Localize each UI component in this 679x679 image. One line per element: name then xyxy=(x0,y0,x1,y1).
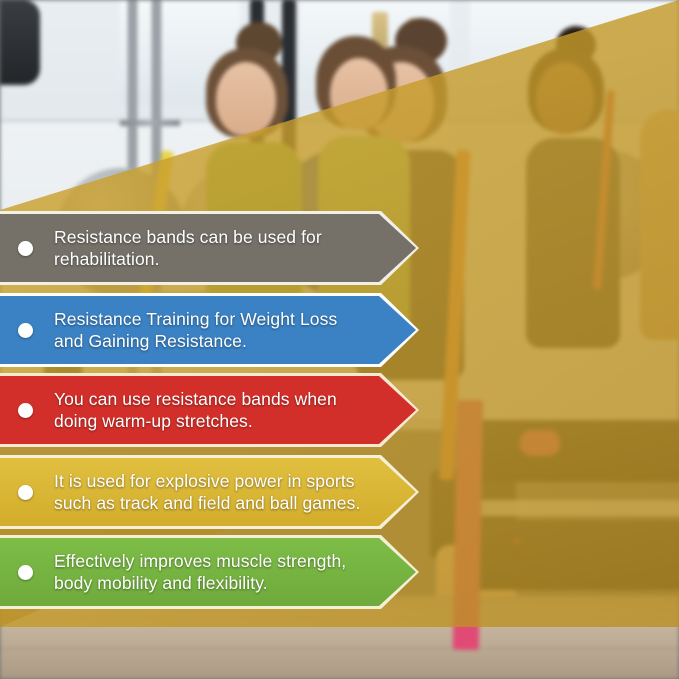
benefit-banner-list: Resistance bands can be used for rehabil… xyxy=(0,0,679,679)
banner-2-text: Resistance Training for Weight Loss and … xyxy=(54,308,337,352)
banner-5-line-1: Effectively improves muscle strength, xyxy=(54,550,346,572)
infographic-canvas: Resistance bands can be used for rehabil… xyxy=(0,0,679,679)
banner-4-text: It is used for explosive power in sports… xyxy=(54,470,360,514)
banner-5-content: Effectively improves muscle strength, bo… xyxy=(0,535,419,609)
benefit-banner-3[interactable]: You can use resistance bands when doing … xyxy=(0,373,419,447)
bullet-dot-icon xyxy=(18,485,33,500)
banner-3-line-2: doing warm-up stretches. xyxy=(54,410,337,432)
benefit-banner-4[interactable]: It is used for explosive power in sports… xyxy=(0,455,419,529)
benefit-banner-2[interactable]: Resistance Training for Weight Loss and … xyxy=(0,293,419,367)
banner-3-line-1: You can use resistance bands when xyxy=(54,388,337,410)
bullet-dot-icon xyxy=(18,403,33,418)
banner-4-line-2: such as track and field and ball games. xyxy=(54,492,360,514)
banner-1-text: Resistance bands can be used for rehabil… xyxy=(54,226,322,270)
banner-1-content: Resistance bands can be used for rehabil… xyxy=(0,211,419,285)
banner-5-text: Effectively improves muscle strength, bo… xyxy=(54,550,346,594)
banner-5-line-2: body mobility and flexibility. xyxy=(54,572,346,594)
benefit-banner-1[interactable]: Resistance bands can be used for rehabil… xyxy=(0,211,419,285)
banner-3-content: You can use resistance bands when doing … xyxy=(0,373,419,447)
banner-1-line-2: rehabilitation. xyxy=(54,248,322,270)
banner-3-text: You can use resistance bands when doing … xyxy=(54,388,337,432)
banner-2-line-2: and Gaining Resistance. xyxy=(54,330,337,352)
bullet-dot-icon xyxy=(18,565,33,580)
banner-2-line-1: Resistance Training for Weight Loss xyxy=(54,308,337,330)
banner-2-content: Resistance Training for Weight Loss and … xyxy=(0,293,419,367)
banner-4-line-1: It is used for explosive power in sports xyxy=(54,470,360,492)
benefit-banner-5[interactable]: Effectively improves muscle strength, bo… xyxy=(0,535,419,609)
banner-1-line-1: Resistance bands can be used for xyxy=(54,226,322,248)
bullet-dot-icon xyxy=(18,323,33,338)
banner-4-content: It is used for explosive power in sports… xyxy=(0,455,419,529)
bullet-dot-icon xyxy=(18,241,33,256)
